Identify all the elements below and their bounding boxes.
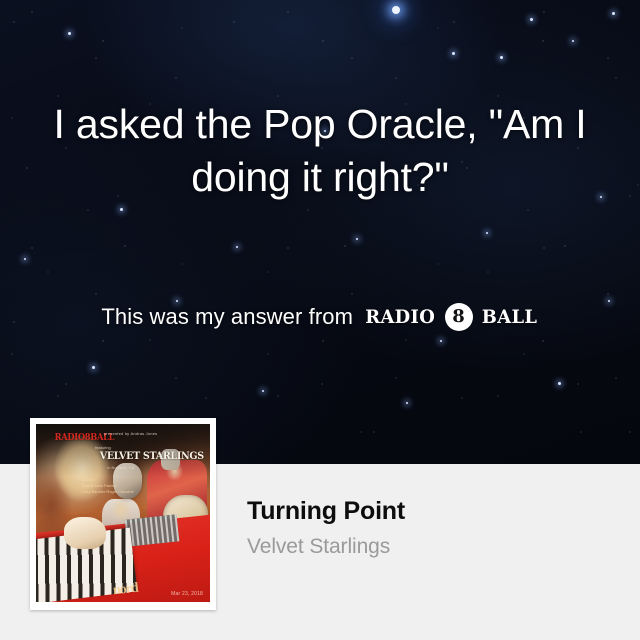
cover-featuring-text: featuring — [95, 445, 111, 450]
track-artist: Velvet Starlings — [247, 535, 390, 559]
star-icon — [486, 232, 488, 234]
star-dust-layer-2 — [0, 0, 640, 464]
star-icon — [68, 32, 71, 35]
star-icon — [608, 300, 610, 302]
star-icon — [558, 382, 561, 385]
star-icon — [92, 366, 95, 369]
star-icon — [24, 258, 26, 260]
photo-hand-on-keys — [64, 517, 106, 549]
star-icon — [356, 238, 358, 240]
star-icon — [262, 390, 264, 392]
bright-star-icon — [392, 6, 400, 14]
star-icon — [406, 402, 408, 404]
album-art-thumbnail[interactable]: nord RADIO8BALL presented by Andras Jone… — [30, 418, 216, 610]
cover-crew-line-3: Larry Bandler Roger Osborne — [81, 489, 133, 495]
keyboard-brand-label: nord — [112, 581, 138, 600]
cover-crew-text: Guests: Tipsed John Parrine Larry Bandle… — [81, 477, 133, 495]
cover-date-stamp: Mar 23, 2018 — [171, 591, 203, 597]
star-icon — [572, 40, 574, 42]
eight-ball-icon: 8 — [445, 303, 473, 331]
star-icon — [236, 246, 238, 248]
starfield-hero-background: I asked the Pop Oracle, "Am I doing it r… — [0, 0, 640, 464]
page-title: I asked the Pop Oracle, "Am I doing it r… — [0, 98, 640, 204]
star-icon — [440, 340, 442, 342]
radio8ball-logo[interactable]: RADIO 8 BALL — [363, 303, 539, 331]
star-icon — [176, 300, 178, 302]
cover-artist-text: VELVET STARLINGS — [100, 451, 204, 462]
star-dust-layer-1 — [0, 0, 640, 464]
cover-venue-text: in Burbank, CA — [107, 465, 134, 470]
logo-word-ball: BALL — [481, 306, 537, 328]
logo-word-radio: RADIO — [365, 306, 435, 328]
star-icon — [500, 56, 503, 59]
star-icon — [120, 208, 123, 211]
star-icon — [530, 18, 533, 21]
photo-keyboard-sliders — [125, 514, 180, 546]
attribution-text: This was my answer from — [101, 304, 353, 330]
radio8ball-share-card: I asked the Pop Oracle, "Am I doing it r… — [0, 0, 640, 640]
album-cover-photo: nord RADIO8BALL presented by Andras Jone… — [36, 424, 210, 602]
headline-line-2: doing it right?" — [16, 151, 624, 204]
headline-line-1: I asked the Pop Oracle, "Am I — [16, 98, 624, 151]
track-title: Turning Point — [247, 497, 405, 526]
star-icon — [612, 12, 615, 15]
star-icon — [452, 52, 455, 55]
cover-presents-text: presented by Andras Jones — [104, 431, 157, 436]
attribution-row: This was my answer from RADIO 8 BALL — [0, 303, 640, 331]
